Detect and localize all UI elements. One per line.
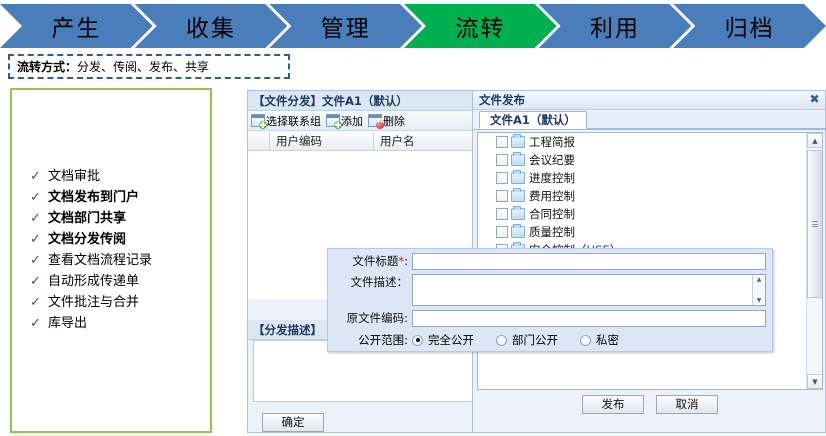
tree-node[interactable]: ▶工程简报 [478,133,805,151]
scope-radio-完全公开[interactable]: 完全公开 [412,332,474,348]
scope-radio-label: 部门公开 [512,332,558,348]
publish-tabstrip: 文件A1（默认） [473,110,825,130]
window-add-icon [326,114,340,127]
plus-badge-icon [259,121,267,129]
process-step-5[interactable]: 利用 [539,4,692,48]
scroll-up-icon[interactable]: ▲ [807,133,823,148]
tree-node-checkbox[interactable] [496,208,508,220]
check-icon: ✓ [30,187,48,208]
feature-item-label: 文档分发传阅 [48,229,126,250]
flow-method-note: 流转方式： 分发、传阅、发布、共享 [8,54,290,79]
process-step-label: 产生 [51,9,101,43]
flow-method-label: 流转方式： [17,58,77,75]
feature-list: ✓文档审批✓文档发布到门户✓文档部门共享✓文档分发传阅✓查看文档流程记录✓自动形… [30,166,210,334]
user-table-col-username[interactable]: 用户名 [374,132,478,150]
tree-node-label: 合同控制 [529,206,575,222]
tree-node-label: 会议纪要 [529,152,575,168]
check-icon: ✓ [30,292,48,313]
field-label-origcode: 原文件编码: [328,310,412,327]
publish-tree-scrollbar[interactable]: ▲ ▼ [806,133,822,389]
tree-node-checkbox[interactable] [496,226,508,238]
tree-node-label: 质量控制 [529,224,575,240]
window-delete-icon [368,114,382,127]
feature-item: ✓文档审批 [30,166,210,187]
check-icon: ✓ [30,229,48,250]
tree-node-checkbox[interactable] [496,172,508,184]
scope-radio-label: 完全公开 [428,332,474,348]
confirm-button[interactable]: 确定 [262,413,324,432]
process-step-label: 归档 [725,9,775,43]
check-icon: ✓ [30,271,48,292]
scroll-thumb[interactable] [807,150,823,298]
feature-item: ✓库导出 [30,313,210,334]
process-ribbon: 产生收集管理流转利用归档 [0,4,826,48]
process-step-label: 管理 [321,9,371,43]
process-step-3[interactable]: 管理 [269,4,422,48]
scope-radio-部门公开[interactable]: 部门公开 [496,332,558,348]
tree-node[interactable]: ▶质量控制 [478,223,805,241]
feature-item: ✓文档部门共享 [30,208,210,229]
file-description-textarea[interactable]: ▲ ▼ [412,274,766,306]
process-step-label: 流转 [455,9,505,43]
tree-node[interactable]: ▶会议纪要 [478,151,805,169]
feature-item-label: 文档审批 [48,166,100,187]
required-marker: * [398,254,404,268]
process-step-label: 收集 [186,9,236,43]
folder-icon [511,208,525,220]
file-title-input[interactable] [412,253,766,270]
process-step-1[interactable]: 产生 [0,4,153,48]
feature-item: ✓文件批注与合并 [30,292,210,313]
check-icon: ✓ [30,166,48,187]
scope-label: 公开范围: [328,332,412,348]
distribute-toolbar: 选择联系组添加删除 [248,111,479,131]
field-label-description: 文件描述： [328,274,412,291]
check-icon: ✓ [30,250,48,271]
feature-item-label: 查看文档流程记录 [48,250,152,271]
radio-icon [580,335,591,346]
scroll-down-icon[interactable]: ▼ [807,374,823,389]
feature-item-label: 库导出 [48,313,87,334]
tree-node-label: 工程简报 [529,134,575,150]
tree-node-label: 进度控制 [529,170,575,186]
folder-icon [511,226,525,238]
flow-method-value: 分发、传阅、发布、共享 [77,58,209,75]
close-icon[interactable]: ✖ [808,94,821,107]
tree-node-checkbox[interactable] [496,136,508,148]
user-table-header: 用户编码 用户名 [248,132,479,151]
field-row-origcode: 原文件编码: [328,306,772,327]
user-table-col-select[interactable] [248,132,270,150]
toolbar-button-label: 选择联系组 [266,113,321,129]
tabstrip-filler [587,112,825,129]
feature-item: ✓文档分发传阅 [30,229,210,250]
publish-window-title: 文件发布 [479,92,808,108]
scroll-down-icon[interactable]: ▼ [757,297,762,304]
publish-button[interactable]: 发布 [582,395,644,414]
toolbar-button-选择联系组[interactable]: 选择联系组 [251,113,321,129]
distribute-button-row: 确定 [248,411,481,434]
tree-node-label: 费用控制 [529,188,575,204]
folder-icon [511,172,525,184]
toolbar-button-label: 删除 [383,113,405,129]
feature-item: ✓查看文档流程记录 [30,250,210,271]
feature-item-label: 文档部门共享 [48,208,126,229]
tree-node-checkbox[interactable] [496,154,508,166]
field-row-description: 文件描述： ▲ ▼ [328,270,772,306]
tree-node[interactable]: ▶合同控制 [478,205,805,223]
feature-item-label: 文件批注与合并 [48,292,139,313]
original-file-code-input[interactable] [412,310,766,327]
textarea-scrollbar[interactable]: ▲ ▼ [752,275,765,305]
feature-item: ✓自动形成传递单 [30,271,210,292]
process-step-6[interactable]: 归档 [673,4,826,48]
toolbar-button-label: 添加 [341,113,363,129]
folder-icon [511,154,525,166]
user-table-col-usercode[interactable]: 用户编码 [270,132,374,150]
check-icon: ✓ [30,313,48,334]
publish-button-row: 发布 取消 [473,392,826,416]
toolbar-button-添加[interactable]: 添加 [326,113,363,129]
scope-radio-私密[interactable]: 私密 [580,332,619,348]
tree-node[interactable]: ▶费用控制 [478,187,805,205]
check-icon: ✓ [30,208,48,229]
plus-badge-icon [334,121,342,129]
publish-window-titlebar: 文件发布 ✖ [473,91,825,110]
feature-item: ✓文档发布到门户 [30,187,210,208]
process-step-2[interactable]: 收集 [135,4,288,48]
tree-node-checkbox[interactable] [496,190,508,202]
distribute-window-title: 【文件分发】文件A1（默认） [248,91,479,111]
radio-icon [412,335,423,346]
scope-radio-label: 私密 [596,332,619,348]
feature-item-label: 文档发布到门户 [48,187,139,208]
scroll-up-icon[interactable]: ▲ [757,276,762,283]
folder-icon [511,136,525,148]
scroll-thumb-grip [812,221,818,227]
window-add-icon [251,114,265,127]
tree-node[interactable]: ▶进度控制 [478,169,805,187]
field-row-title: 文件标题*: [328,249,772,270]
delete-badge-icon [376,121,384,129]
scope-radio-row: 公开范围: 完全公开部门公开私密 [328,327,772,348]
radio-icon [496,335,507,346]
field-label-title: 文件标题*: [328,253,412,270]
toolbar-button-删除[interactable]: 删除 [368,113,405,129]
publish-form-dialog: 文件标题*: 文件描述： ▲ ▼ 原文件编码: 公开范围: 完全公开部门公开私密 [327,248,773,352]
feature-item-label: 自动形成传递单 [48,271,139,292]
process-step-4[interactable]: 流转 [404,4,557,48]
cancel-button[interactable]: 取消 [656,395,718,414]
feature-list-box: ✓文档审批✓文档发布到门户✓文档部门共享✓文档分发传阅✓查看文档流程记录✓自动形… [10,88,212,433]
process-step-label: 利用 [590,9,640,43]
folder-icon [511,190,525,202]
tab-file-a1[interactable]: 文件A1（默认） [479,111,587,129]
